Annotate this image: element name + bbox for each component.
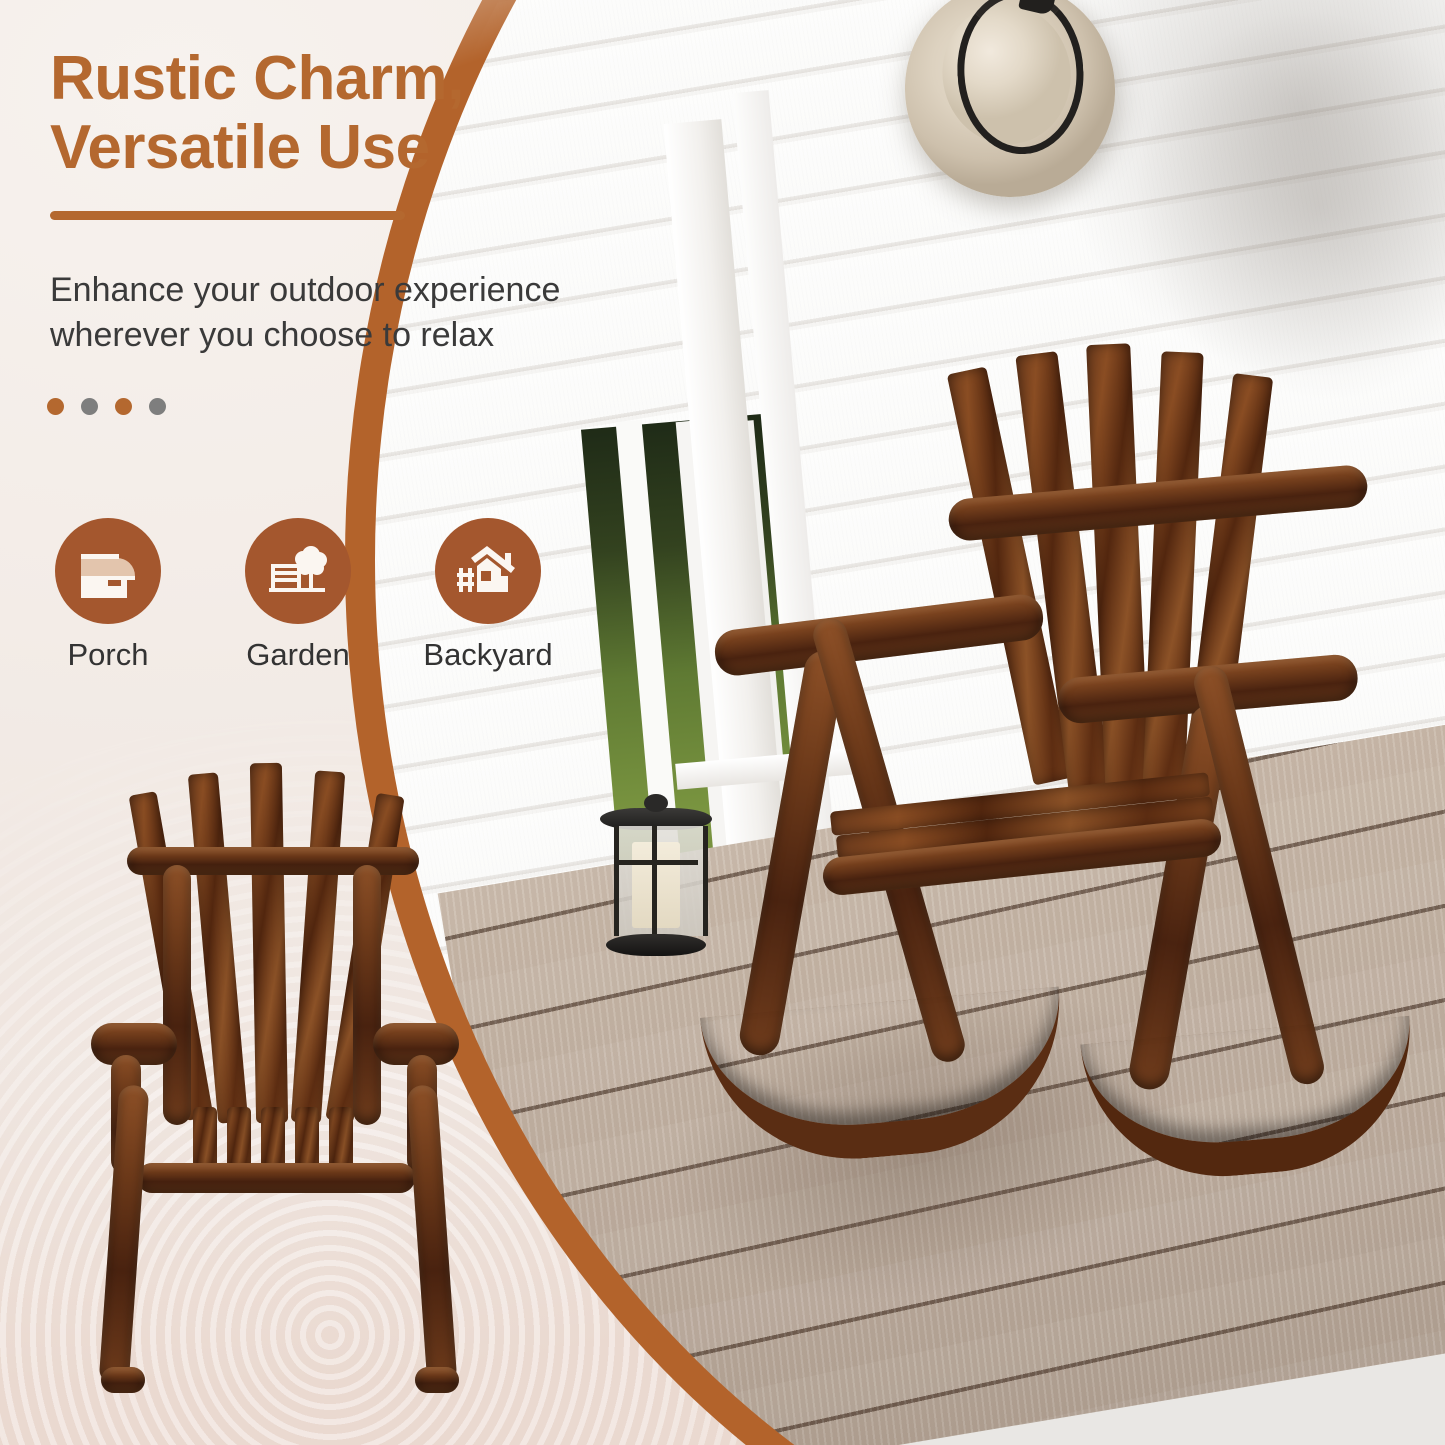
dot-indicators xyxy=(47,398,166,415)
lantern-mullion xyxy=(652,826,657,936)
porch-awning-icon xyxy=(77,542,139,600)
marketing-banner: Rustic Charm, Versatile Use Enhance your… xyxy=(0,0,1445,1445)
feature-garden-label: Garden xyxy=(246,637,349,673)
headline-line-1: Rustic Charm, xyxy=(50,44,710,113)
chair-seat-slat xyxy=(329,1107,353,1169)
chair-seat-slat xyxy=(261,1107,285,1169)
feature-garden: Garden xyxy=(234,518,362,673)
lantern-knob xyxy=(644,794,668,812)
feature-backyard-label: Backyard xyxy=(423,637,552,673)
dot-4 xyxy=(149,398,166,415)
product-chair-front-view xyxy=(85,755,515,1415)
chair-back-post-right xyxy=(353,865,381,1125)
chair-foot-left xyxy=(101,1367,145,1393)
subtitle-line-1: Enhance your outdoor experience xyxy=(50,268,730,313)
subtitle: Enhance your outdoor experience wherever… xyxy=(50,268,730,358)
chair-seat-slat xyxy=(193,1107,217,1169)
chair-back-post-left xyxy=(163,865,191,1125)
feature-porch: Porch xyxy=(44,518,172,673)
dot-3 xyxy=(115,398,132,415)
feature-list: Porch xyxy=(44,518,552,673)
chair-foot-right xyxy=(415,1367,459,1393)
porch-badge xyxy=(55,518,161,624)
headline-divider xyxy=(50,211,405,220)
subtitle-line-2: wherever you choose to relax xyxy=(50,313,730,358)
dot-1 xyxy=(47,398,64,415)
chair-back-slat xyxy=(250,763,288,1124)
chair-seat-slat xyxy=(295,1107,319,1169)
garden-bench-tree-icon xyxy=(267,542,329,600)
feature-porch-label: Porch xyxy=(68,637,149,673)
chair-leg-right xyxy=(407,1084,458,1385)
chair-leg-left xyxy=(99,1084,150,1385)
backyard-badge xyxy=(435,518,541,624)
chair-arm-log-left xyxy=(712,592,1045,678)
headline-line-2: Versatile Use xyxy=(50,113,710,182)
house-fence-icon xyxy=(457,542,519,600)
chair-seat-front-rail xyxy=(137,1163,415,1193)
garden-badge xyxy=(245,518,351,624)
chair-seat-slat xyxy=(227,1107,251,1169)
rocking-chair-photo xyxy=(690,330,1430,1130)
chair-front-leg-left xyxy=(737,648,848,1059)
dot-2 xyxy=(81,398,98,415)
feature-backyard: Backyard xyxy=(424,518,552,673)
headline: Rustic Charm, Versatile Use xyxy=(50,44,710,183)
sun-hat-icon xyxy=(889,0,1130,212)
